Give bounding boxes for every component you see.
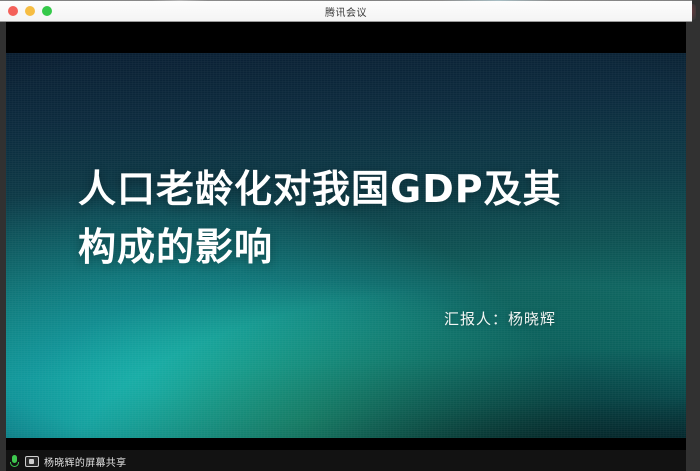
shared-slide[interactable]: 人口老龄化对我国GDP及其 构成的影响 汇报人：杨晓辉 (6, 53, 686, 438)
close-button[interactable] (8, 6, 18, 16)
slide-presenter: 汇报人：杨晓辉 (6, 308, 556, 329)
microphone-icon[interactable] (9, 454, 20, 468)
window-title: 腾讯会议 (0, 4, 692, 19)
screen-share-label: 杨晓辉的屏幕共享 (44, 454, 126, 469)
minimize-button[interactable] (25, 6, 35, 16)
window-controls (0, 6, 52, 16)
screen-share-icon[interactable] (25, 456, 39, 467)
slide-title: 人口老龄化对我国GDP及其 构成的影响 (78, 161, 638, 277)
tencent-meeting-window: 腾讯会议 人口老龄化对我国GDP及其 构成的影响 汇报人：杨晓辉 杨晓辉的屏幕共… (0, 1, 692, 471)
window-titlebar[interactable]: 腾讯会议 (0, 1, 692, 22)
meeting-content-area: 人口老龄化对我国GDP及其 构成的影响 汇报人：杨晓辉 杨晓辉的屏幕共享 (0, 22, 692, 471)
maximize-button[interactable] (42, 6, 52, 16)
screen-share-statusbar: 杨晓辉的屏幕共享 (6, 450, 686, 471)
